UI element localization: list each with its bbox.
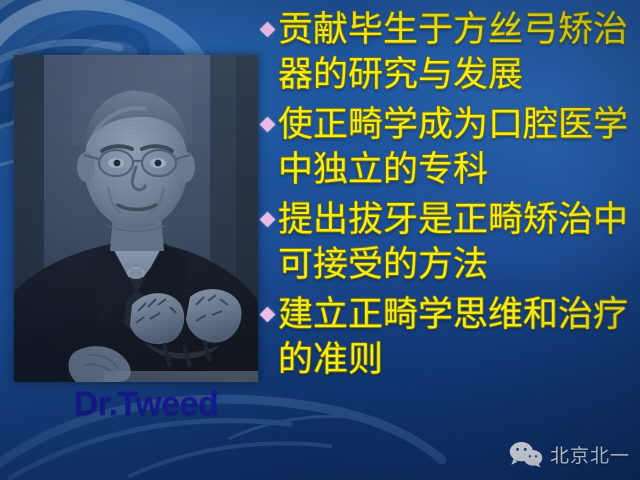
presentation-slide: Dr.Tweed 贡献毕生于方丝弓矫治器的研究与发展 使正畸学成为口腔医学中独立… (0, 0, 640, 480)
vignette-overlay (0, 0, 640, 480)
